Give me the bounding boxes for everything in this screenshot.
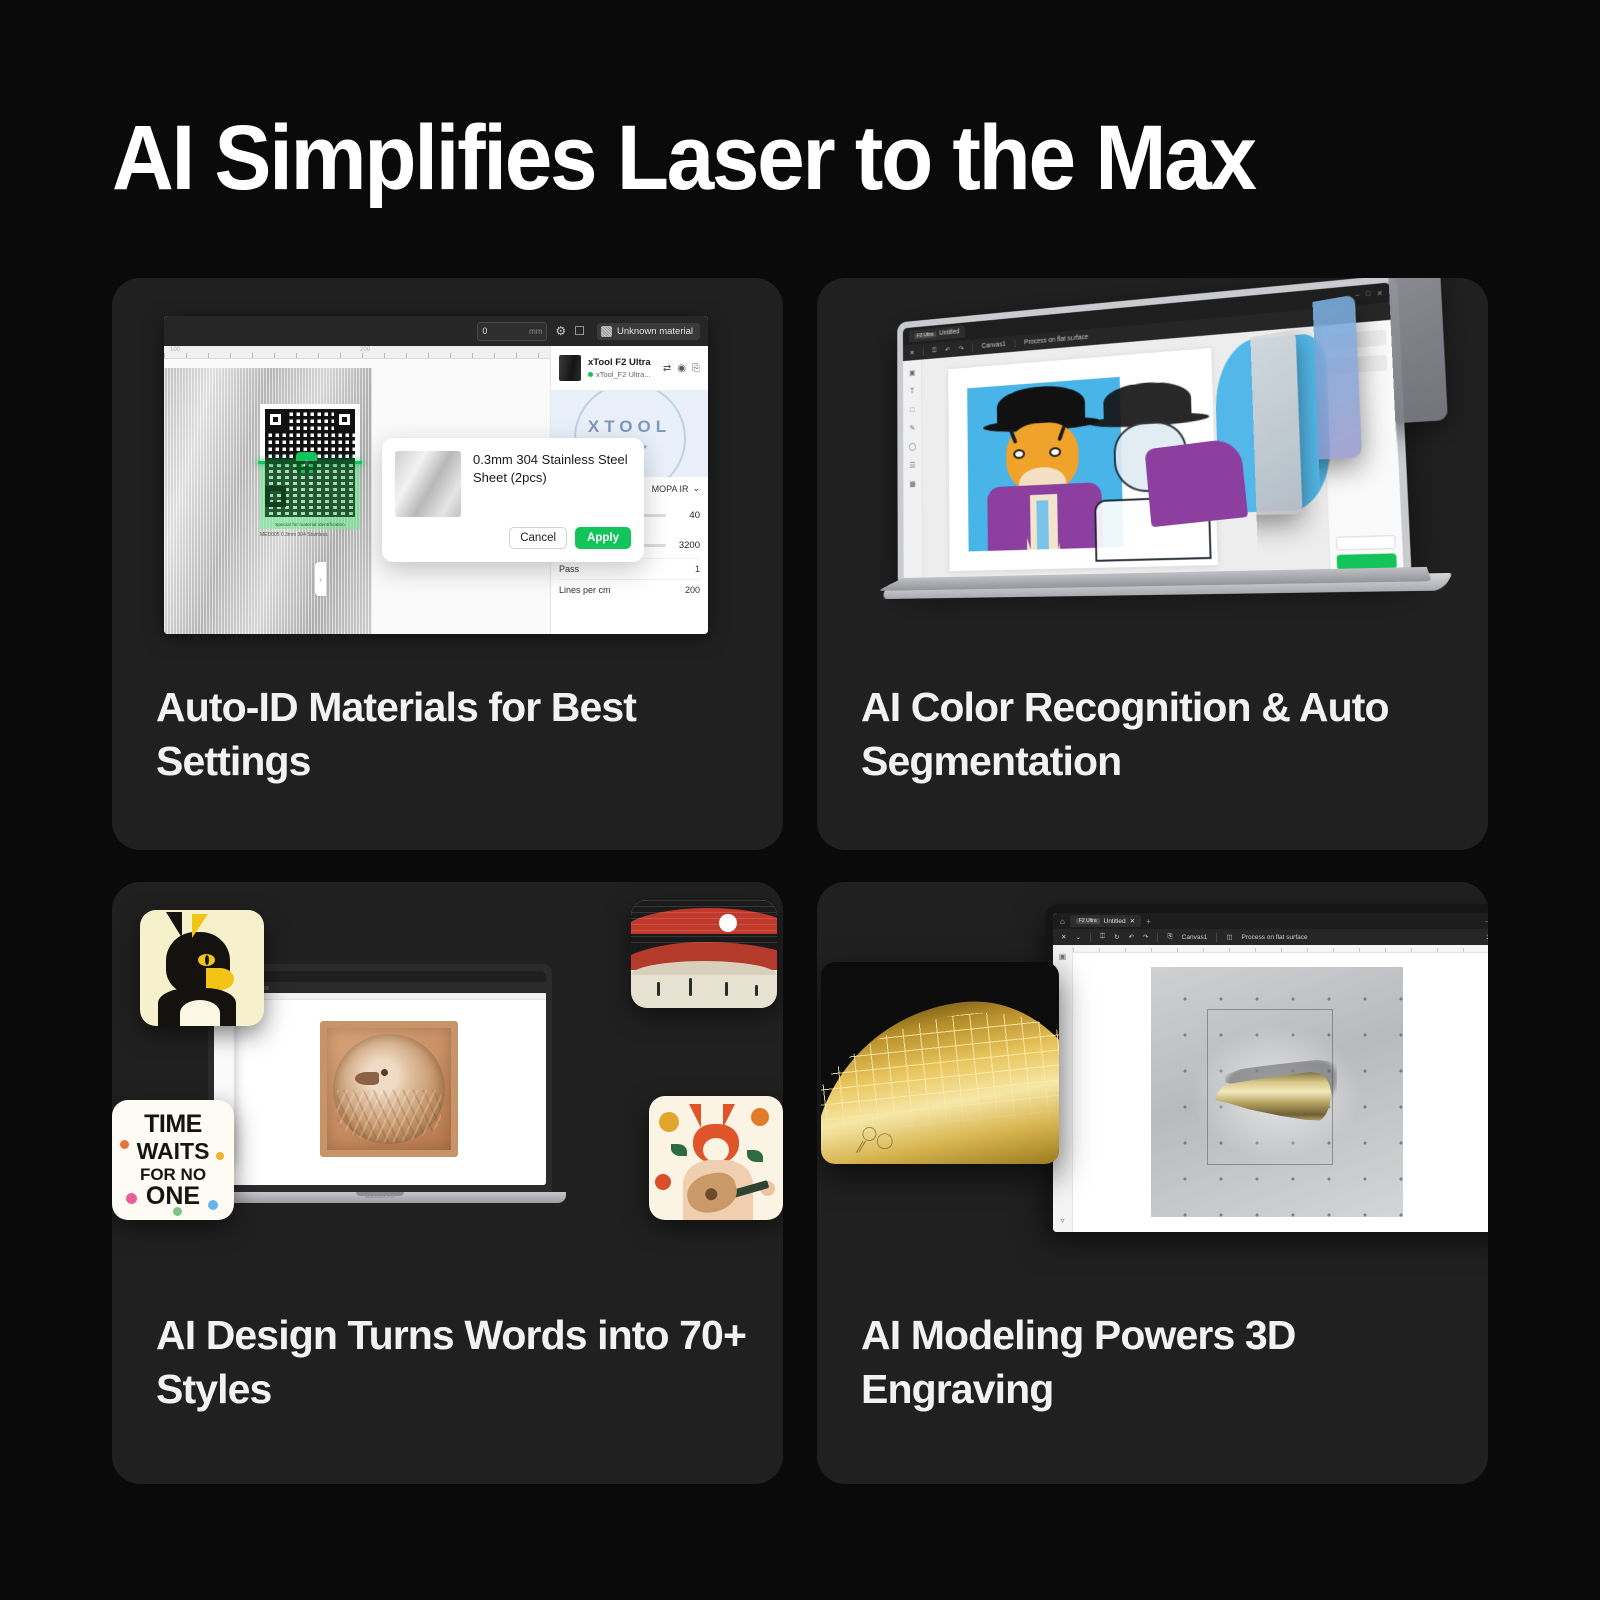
close-icon[interactable]: ✕ (1130, 917, 1135, 925)
cancel-button[interactable]: Cancel (509, 527, 567, 549)
poster-root: AI Simplifies Laser to the Max 0 mm ⚙ ☐ (0, 0, 1600, 1600)
lapel-shape (1057, 493, 1075, 549)
tab-title: Untitled (939, 329, 959, 337)
design-canvas[interactable] (1073, 945, 1488, 1232)
height-unit: mm (529, 327, 542, 336)
cat-muzzle-shape (206, 968, 234, 990)
canvas-name[interactable]: Canvas1 (1182, 934, 1208, 941)
laptop-device: F2 Ultra Untitled – □ ✕ ✕ (897, 278, 1444, 610)
camera-icon[interactable]: ☐ (574, 325, 585, 337)
leaf-icon (747, 1150, 763, 1162)
leaf-icon (671, 1144, 687, 1156)
material-qr-tag: ▲ Special for material identification ME… (260, 404, 360, 538)
apply-button[interactable]: Apply (575, 527, 631, 549)
minimize-icon[interactable]: – (1485, 918, 1488, 925)
device-actions: ⇄ ◉ ⎘ (663, 363, 700, 374)
lettering-line: FOR NO (112, 1166, 234, 1183)
flower-icon (208, 1200, 218, 1210)
laser-machine-icon (559, 355, 581, 381)
process-button[interactable] (1337, 553, 1397, 569)
pass-label: Pass (559, 564, 579, 574)
tablet-device: ⌂ F2 Ultra Untitled ✕ + – (1045, 904, 1488, 1232)
horizontal-ruler: 100 200 (164, 346, 550, 359)
flower-icon (216, 1152, 224, 1160)
tab-device-chip: F2 Ultra (1076, 918, 1100, 924)
image-tool-icon[interactable]: ▣ (909, 368, 915, 377)
qr-corner-icon (265, 409, 286, 430)
divider (1014, 339, 1015, 348)
material-tool-icon[interactable]: ▦ (909, 479, 915, 488)
material-badge[interactable]: Unknown material (597, 323, 700, 340)
status-dot-icon (588, 372, 593, 377)
lines-value: 200 (685, 585, 700, 595)
tab-device-chip: F2 Ultra (915, 331, 936, 338)
laptop-brand-label: MacBook Pro (365, 1194, 395, 1200)
card-title-auto-id: Auto-ID Materials for Best Settings (156, 681, 747, 788)
flower-icon (659, 1112, 679, 1132)
qr-scan-highlight: ▲ (260, 461, 360, 521)
app-workspace (214, 993, 546, 1185)
window-status: – (1485, 918, 1488, 925)
fox-ear-icon (689, 1104, 701, 1128)
feature-card-3d-modeling[interactable]: ⌂ F2 Ultra Untitled ✕ + – (817, 882, 1488, 1484)
style-card-lettering[interactable]: TIME WAITS FOR NO ONE (112, 1100, 234, 1220)
flower-icon (173, 1207, 182, 1216)
lapel-shape (1014, 495, 1031, 550)
divider (923, 347, 924, 355)
card-title-color-recognition: AI Color Recognition & Auto Segmentation (861, 681, 1452, 788)
3d-mesh-overlay-card[interactable]: ⁄⁄ (821, 962, 1059, 1164)
image-tool-icon[interactable]: ▣ (1059, 952, 1067, 961)
draw-tool-icon[interactable]: ◯ (909, 442, 917, 451)
horizontal-ruler (1073, 945, 1488, 953)
panel-collapse-handle[interactable]: › (315, 562, 326, 596)
horizontal-ruler (232, 993, 546, 1000)
power-value: 40 (674, 510, 700, 521)
process-mode[interactable]: Process on flat surface (1024, 334, 1088, 346)
material-name: 0.3mm 304 Stainless Steel Sheet (2pcs) (473, 451, 631, 517)
flower-icon (655, 1174, 671, 1190)
fox-face-shape (703, 1138, 729, 1162)
material-badge-label: Unknown material (617, 326, 693, 337)
eagle-beak-shape (355, 1072, 379, 1085)
feather-texture (337, 1090, 441, 1142)
speed-value: 3200 (674, 540, 700, 551)
chevron-down-icon: ⌄ (692, 483, 700, 494)
cat-eye-icon (198, 954, 215, 966)
tab-title: Untitled (1104, 918, 1126, 925)
qr-caption: Special for material identification (260, 521, 360, 529)
text-tool-icon[interactable]: T (910, 387, 914, 396)
popover-content: 0.3mm 304 Stainless Steel Sheet (2pcs) (395, 451, 631, 517)
redo-icon[interactable]: ↷ (1143, 933, 1148, 941)
laser-focus-icon[interactable]: ⚙ (555, 325, 566, 337)
flower-icon (120, 1140, 129, 1149)
divider (1157, 933, 1158, 942)
zoom-level[interactable]: 37.2 (1486, 934, 1488, 941)
settings-icon[interactable]: ◉ (677, 363, 686, 374)
device-connection: xTool_F2 Ultra... (588, 370, 651, 379)
cat-ear-icon (166, 912, 182, 938)
app-toolbar: ✕ ⌄ ⎅ ↻ ↶ ↷ ⎘ Canvas1 ◫ Proce (1053, 929, 1488, 945)
pass-value: 1 (695, 564, 700, 574)
secondary-button[interactable] (1336, 535, 1396, 551)
pen-tool-icon[interactable]: ✎ (910, 424, 916, 433)
divider (972, 343, 973, 351)
eagle-eye-icon (381, 1069, 388, 1076)
cat-ear-icon (192, 914, 208, 938)
redo-icon[interactable]: ↷ (959, 344, 964, 352)
style-card-fox[interactable] (649, 1096, 783, 1220)
flower-icon (126, 1193, 137, 1204)
canvas-name[interactable]: Canvas1 (982, 341, 1006, 350)
popover-actions: Cancel Apply (395, 527, 631, 549)
laser-bed-camera-view (1151, 967, 1403, 1217)
material-swatch-icon (601, 326, 612, 337)
feature-card-color-recognition[interactable]: F2 Ultra Untitled – □ ✕ ✕ (817, 278, 1488, 850)
lettering-line: WAITS (112, 1140, 234, 1163)
logo-icon: ✕ (910, 349, 915, 357)
cursor-tool-icon[interactable]: ▿ (1060, 1216, 1064, 1225)
feature-card-auto-id[interactable]: 0 mm ⚙ ☐ Unknown material 1 (112, 278, 783, 850)
app-tab[interactable]: F2 Ultra Untitled ✕ (1070, 915, 1141, 927)
design-canvas[interactable] (232, 993, 546, 1185)
device-name: xTool F2 Ultra (588, 357, 651, 368)
card-title-3d-modeling: AI Modeling Powers 3D Engraving (861, 1309, 1452, 1416)
material-detected-popover[interactable]: 0.3mm 304 Stainless Steel Sheet (2pcs) C… (382, 438, 644, 562)
ruler-label: 100 (170, 347, 180, 353)
tool-rail: ▣ T □ ✎ ◯ ☰ ▦ (903, 360, 923, 581)
chevron-down-icon[interactable]: ⌄ (1075, 933, 1080, 941)
xtool-app-window: 0 mm ⚙ ☐ Unknown material 1 (164, 316, 708, 634)
material-thumbnail (395, 451, 461, 517)
undo-icon[interactable]: ↶ (945, 346, 950, 354)
cactus-icon (725, 982, 728, 996)
layers-tool-icon[interactable]: ☰ (909, 461, 915, 470)
height-input[interactable]: 0 mm (477, 322, 547, 341)
feature-card-grid: 0 mm ⚙ ☐ Unknown material 1 (112, 278, 1488, 1484)
height-value: 0 (482, 326, 487, 336)
brass-vase-workpiece[interactable] (1215, 1071, 1331, 1123)
home-icon[interactable]: ⌂ (1060, 917, 1065, 926)
device-connection-label: xTool_F2 Ultra... (596, 370, 651, 379)
ruler-label: 200 (360, 347, 370, 353)
app-workspace: ▣ ▿ (1053, 945, 1488, 1232)
canvas-icon: ⎘ (1167, 933, 1172, 941)
flower-icon (751, 1108, 769, 1126)
divider (1216, 933, 1217, 942)
transfer-icon[interactable]: ⇄ (663, 363, 671, 374)
eagle-relief-artwork (320, 1021, 458, 1157)
guitar-soundhole-icon (704, 1187, 719, 1202)
cactus-icon (755, 985, 758, 996)
style-card-desert[interactable] (631, 900, 777, 1008)
macbook-base: MacBook Pro (194, 1192, 566, 1203)
cat-bib-shape (180, 1000, 220, 1026)
lines-setting[interactable]: Lines per cm 200 (559, 579, 700, 600)
shape-tool-icon[interactable]: □ (910, 405, 914, 414)
tie-shape (1036, 500, 1049, 549)
sync-icon[interactable]: ↻ (1114, 933, 1119, 941)
lettering-line: TIME (112, 1112, 234, 1137)
lines-label: Lines per cm (559, 585, 611, 595)
cactus-icon (689, 978, 692, 996)
save-icon[interactable]: ⎅ (1100, 933, 1105, 941)
save-icon[interactable]: ⎅ (932, 347, 937, 355)
divider (1090, 933, 1091, 942)
laser-type-value: MOPA IR (652, 484, 689, 494)
page-title: AI Simplifies Laser to the Max (112, 0, 1392, 204)
style-card-cat[interactable] (140, 910, 264, 1026)
device-row[interactable]: xTool F2 Ultra xTool_F2 Ultra... ⇄ ◉ (551, 346, 708, 391)
card-title-ai-design: AI Design Turns Words into 70+ Styles (156, 1309, 747, 1416)
new-tab-icon[interactable]: + (1146, 917, 1151, 926)
undo-icon[interactable]: ↶ (1129, 933, 1134, 941)
process-mode[interactable]: Process on flat surface (1241, 934, 1307, 941)
tablet-screen: ⌂ F2 Ultra Untitled ✕ + – (1053, 913, 1488, 1232)
app-toolbar: 0 mm ⚙ ☐ Unknown material (164, 316, 708, 346)
qr-corner-icon (334, 409, 355, 430)
app-titlebar: ⌂ F2 Ultra Untitled ✕ + – (1053, 913, 1488, 929)
qr-corner-icon (265, 486, 286, 507)
stamp-brand: XTOOL (588, 417, 671, 437)
process-mode-icon: ◫ (1226, 933, 1232, 941)
cactus-icon (657, 982, 660, 996)
line-texture (631, 900, 777, 948)
feature-card-ai-design[interactable]: MacBook Pro TIME WAITS FOR NO (112, 882, 783, 1484)
file-icon[interactable]: ⎘ (692, 363, 700, 374)
qr-code-label: MED005 0.3mm 304 Stainless (260, 529, 360, 538)
logo-icon: ✕ (1061, 933, 1066, 941)
